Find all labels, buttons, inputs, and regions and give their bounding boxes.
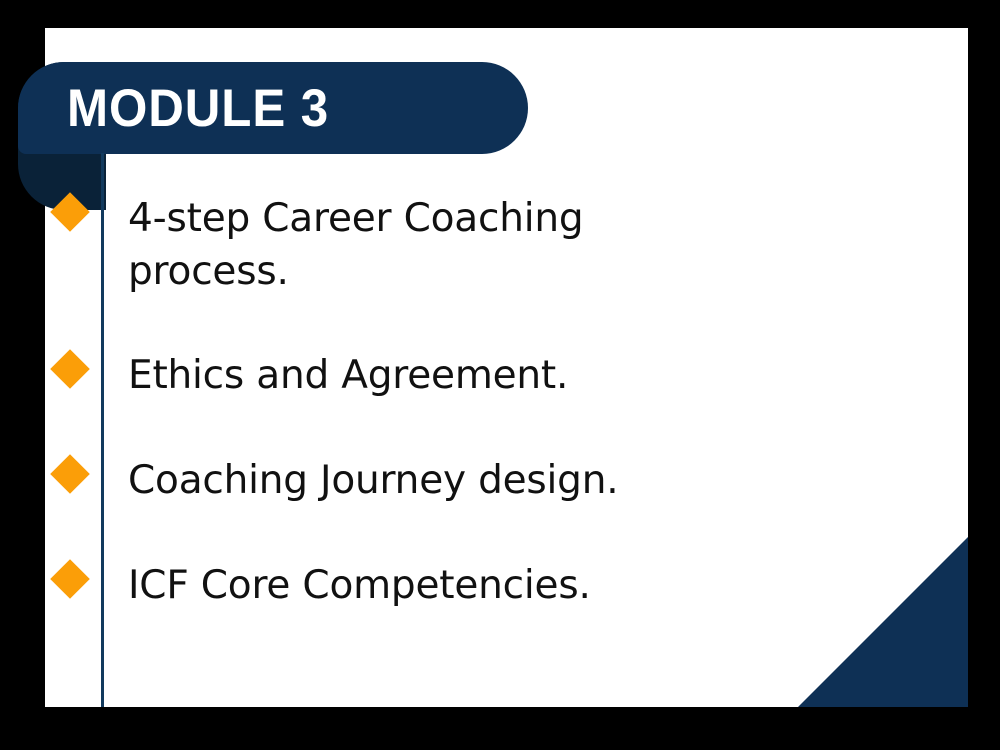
list-item: ICF Core Competencies. (56, 559, 591, 612)
list-item: Ethics and Agreement. (56, 349, 568, 402)
list-item-label: Coaching Journey design. (128, 454, 618, 507)
diamond-marker-icon (50, 192, 90, 232)
list-item: Coaching Journey design. (56, 454, 618, 507)
list-item-label: Ethics and Agreement. (128, 349, 568, 402)
diamond-marker-icon (50, 349, 90, 389)
diamond-marker-icon (50, 454, 90, 494)
list-item: 4-step Career Coaching process. (56, 192, 583, 298)
slide-canvas: MODULE 3 4-step Career Coaching process.… (0, 0, 1000, 750)
list-item-label: ICF Core Competencies. (128, 559, 591, 612)
list-item-label: 4-step Career Coaching process. (128, 192, 583, 298)
bullet-list: 4-step Career Coaching process. Ethics a… (0, 0, 1000, 750)
diamond-marker-icon (50, 559, 90, 599)
